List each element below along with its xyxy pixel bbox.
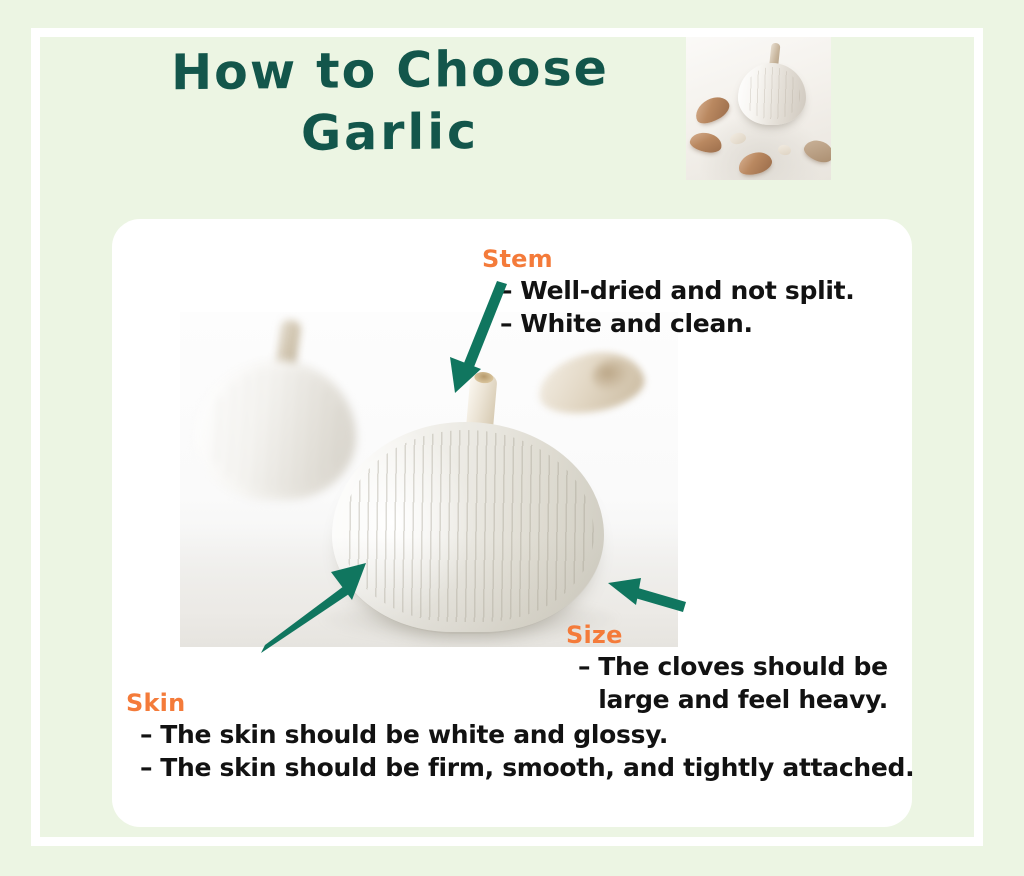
list-item-text: White and clean. — [520, 307, 753, 340]
annotation-skin-list: – The skin should be white and glossy. –… — [140, 718, 916, 784]
annotation-size-heading: Size — [566, 622, 916, 648]
bullet-dash: – — [578, 650, 590, 683]
header-garlic-photo — [686, 33, 831, 180]
main-garlic-photo — [180, 312, 678, 647]
page-title: How to Choose Garlic — [120, 37, 660, 167]
list-item: – The skin should be firm, smooth, and t… — [140, 751, 916, 784]
list-item-text: Well-dried and not split. — [520, 274, 854, 307]
header-photo-bulb — [738, 63, 806, 125]
list-item-text: The skin should be white and glossy. — [160, 718, 668, 751]
list-item: – The skin should be white and glossy. — [140, 718, 916, 751]
annotation-skin: Skin – The skin should be white and glos… — [126, 690, 916, 784]
page-title-line-1: How to Choose — [120, 37, 660, 105]
list-item-text: The skin should be firm, smooth, and tig… — [160, 751, 914, 784]
list-item: – White and clean. — [500, 307, 912, 340]
bullet-dash: – — [140, 751, 152, 784]
bullet-dash: – — [500, 307, 512, 340]
bullet-dash: – — [500, 274, 512, 307]
page-title-line-2: Garlic — [120, 99, 660, 167]
annotation-skin-heading: Skin — [126, 690, 916, 716]
annotation-stem-list: – Well-dried and not split. – White and … — [500, 274, 912, 340]
header-section: How to Choose Garlic — [0, 0, 1024, 205]
annotation-stem: Stem – Well-dried and not split. – White… — [482, 246, 912, 340]
annotation-stem-heading: Stem — [482, 246, 912, 272]
list-item: – Well-dried and not split. — [500, 274, 912, 307]
bullet-dash: – — [140, 718, 152, 751]
